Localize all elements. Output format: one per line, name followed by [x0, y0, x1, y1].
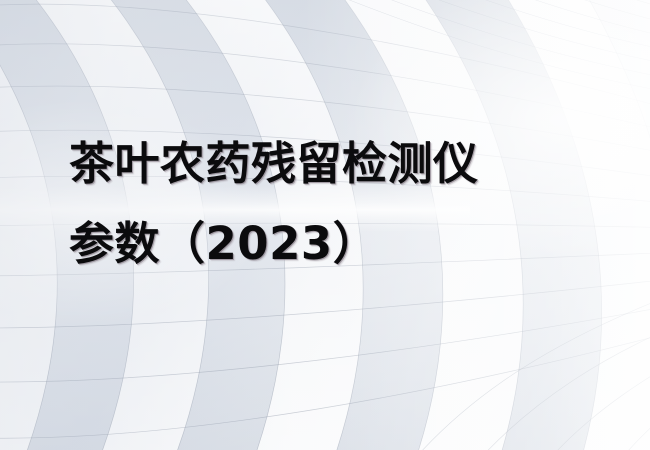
title-line-1: 茶叶农药残留检测仪 [69, 124, 589, 204]
title-line-2: 参数（2023） [69, 204, 589, 284]
product-title-banner: 茶叶农药残留检测仪 参数（2023） [0, 0, 650, 450]
page-title: 茶叶农药残留检测仪 参数（2023） [69, 124, 589, 284]
